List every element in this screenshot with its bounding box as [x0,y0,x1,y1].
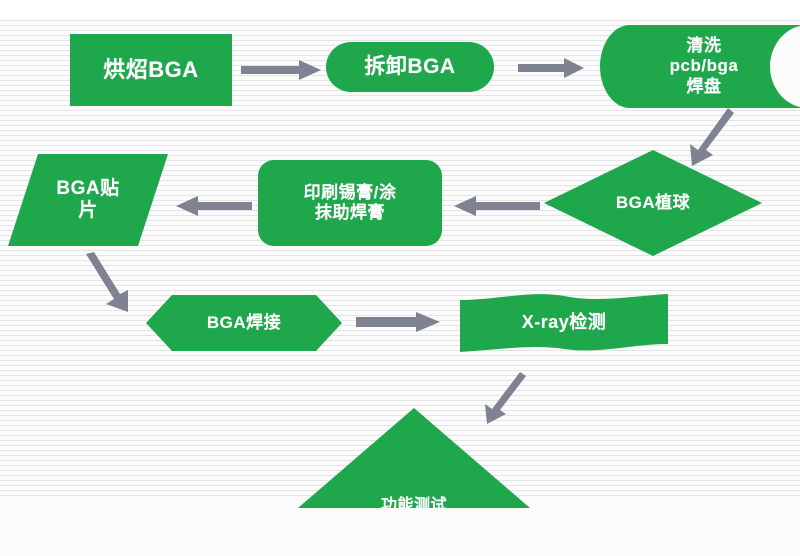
arrow-right-icon [356,312,440,332]
arrow-reball-to-paste [454,196,540,216]
node-bga-soldering[interactable]: BGA焊接 [146,295,342,351]
node-bga-placement[interactable]: BGA贴 片 [8,154,168,246]
node-bake-bga[interactable]: 烘炤BGA [70,34,232,106]
arrow-right-icon [241,60,321,80]
arrow-remove-to-clean [518,58,584,78]
pill-shape [326,42,494,92]
arrow-xray-to-functest [484,372,530,428]
arrow-solder-to-xray [356,312,440,332]
arrow-down-left-icon [484,372,530,428]
rectangle-shape [70,34,232,106]
arrow-right-icon [518,58,584,78]
wave-shape [460,294,668,352]
rounded-rect-shape [258,160,442,246]
arrow-left-icon [176,196,252,216]
node-xray-inspection[interactable]: X-ray检测 [460,294,668,352]
arrow-bake-to-remove [241,60,321,80]
node-clean-pads[interactable]: 清洗 pcb/bga 焊盘 [600,25,800,108]
concave-right-shape [600,25,800,108]
arrow-down-right-icon [86,252,138,314]
node-print-solder-paste[interactable]: 印刷锡膏/涂 抹助焊膏 [258,160,442,246]
arrow-left-icon [454,196,540,216]
arrow-down-left-icon [688,108,736,170]
node-remove-bga[interactable]: 拆卸BGA [326,42,494,92]
hexagon-shape [146,295,342,351]
arrow-clean-to-reball [688,108,736,170]
parallelogram-shape [8,154,168,246]
flowchart-canvas: 烘炤BGA 拆卸BGA 清洗 pcb/bga 焊盘 BGA植球 印刷锡膏/涂 抹… [0,0,800,500]
arrow-place-to-solder [86,252,138,314]
arrow-paste-to-place [176,196,252,216]
